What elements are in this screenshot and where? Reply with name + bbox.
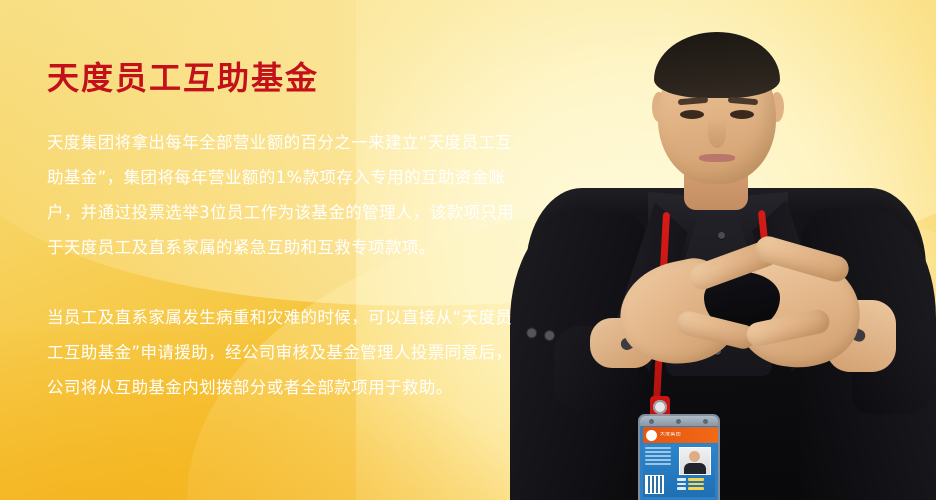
badge-holder-hole-left [649,419,654,424]
sleeve-button-1 [525,327,537,339]
badge-holder-hole-right [703,419,708,424]
company-logo-icon [646,430,657,441]
hair [654,32,780,98]
badge-portrait-head [689,451,700,462]
mouth [699,154,735,162]
sleeve-button-2 [543,329,555,341]
badge-main-column [673,444,715,497]
badge-field-row [677,478,712,481]
badge-field-value [688,483,704,486]
badge-side-line [645,463,671,465]
lanyard-ring [653,400,667,414]
badge-field-row [677,483,712,486]
badge-field-row [677,487,712,490]
badge-portrait-body [684,463,706,474]
badge-body [643,444,715,497]
man-heart-gesture-photo: 天度集团 [470,0,936,500]
badge-field-rows [677,478,712,490]
badge-portrait-photo [679,447,711,475]
employee-mutual-aid-fund-banner: 天度集团 [0,0,936,500]
badge-side-line [645,451,671,453]
page-title: 天度员工互助基金 [47,60,517,97]
badge-field-key [677,487,686,490]
qr-code-icon [645,475,664,494]
badge-field-key [677,478,686,481]
badge-side-line [645,447,671,449]
paragraph-fund-establishment: 天度集团将拿出每年全部营业额的百分之一来建立“天度员工互助基金”，集团将每年营业… [47,125,517,265]
nose [708,118,726,148]
badge-holder [640,416,718,426]
badge-holder-hole-center [676,419,681,424]
badge-side-line [645,455,671,457]
eye-left [680,110,704,119]
badge-side-text [643,444,673,497]
paragraph-application-process: 当员工及直系家属发生病重和灾难的时候，可以直接从“天度员工互助基金”申请援助，经… [47,300,517,405]
employee-id-badge: 天度集团 [640,416,718,500]
badge-header: 天度集团 [643,427,718,443]
badge-field-value [688,487,704,490]
badge-field-value [688,478,704,481]
banner-paragraphs: 天度集团将拿出每年全部营业额的百分之一来建立“天度员工互助基金”，集团将每年营业… [47,125,517,405]
badge-field-key [677,483,686,486]
eye-right [730,110,754,119]
badge-brand-label: 天度集团 [660,432,681,438]
banner-copy: 天度员工互助基金 天度集团将拿出每年全部营业额的百分之一来建立“天度员工互助基金… [47,60,517,405]
badge-side-line [645,459,671,461]
shirt-button-top [718,232,725,239]
